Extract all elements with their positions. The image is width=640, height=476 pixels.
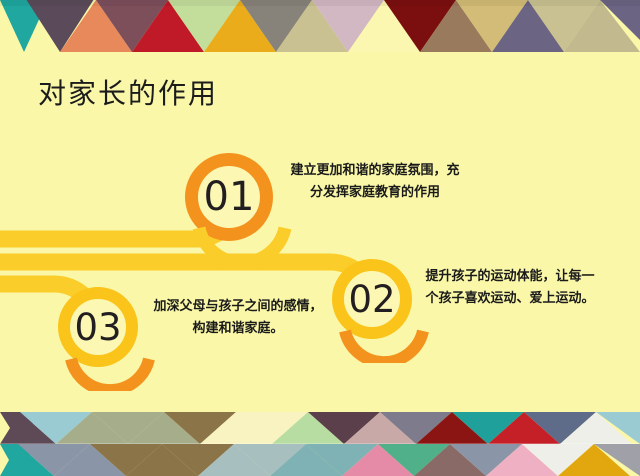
step-circle-02: 02 bbox=[332, 259, 412, 339]
step-text-01: 建立更加和谐的家庭氛围，充分发挥家庭教育的作用 bbox=[285, 160, 465, 205]
step-text-03: 加深父母与孩子之间的感情，构建和谐家庭。 bbox=[148, 296, 328, 341]
step-number-03: 03 bbox=[74, 309, 121, 346]
bottom-triangle-pattern bbox=[0, 398, 640, 476]
step-text-02: 提升孩子的运动体能，让每一个孩子喜欢运动、爱上运动。 bbox=[420, 266, 600, 311]
slide-canvas: 对家长的作用 01 建立更加和谐的家庭氛围，充分发挥家庭教育的作用 02 提升孩… bbox=[0, 0, 640, 476]
step-number-01: 01 bbox=[204, 177, 255, 217]
top-triangle-pattern bbox=[0, 0, 640, 56]
bottom-triangle-border bbox=[0, 398, 640, 476]
step-number-02: 02 bbox=[348, 281, 395, 318]
step-circle-01: 01 bbox=[185, 153, 273, 241]
step-circle-03: 03 bbox=[58, 287, 138, 367]
top-triangle-border bbox=[0, 0, 640, 56]
